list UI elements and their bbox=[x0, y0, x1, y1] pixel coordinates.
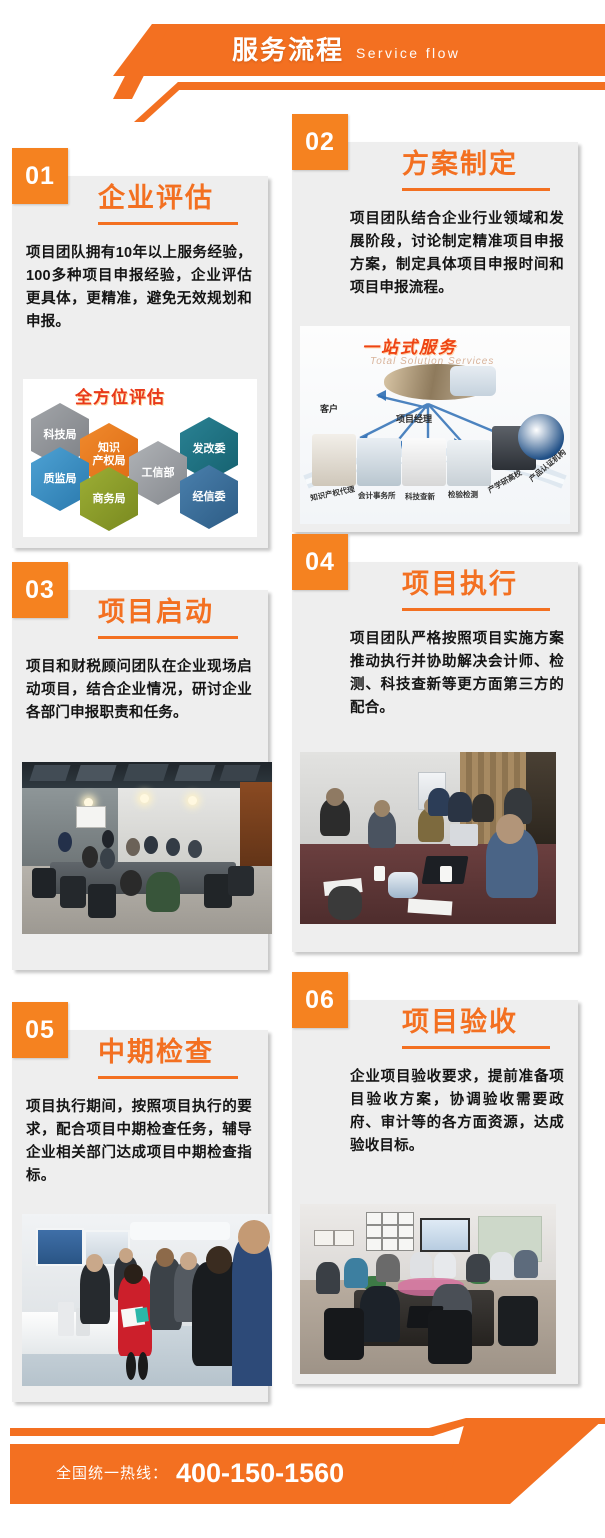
photo-bag bbox=[388, 872, 418, 898]
header-accent-line bbox=[0, 82, 605, 90]
page-footer: 全国统一热线： 400-150-1560 bbox=[0, 1418, 605, 1538]
photo-person-4 bbox=[448, 792, 472, 822]
step-card-06: 06 项目验收 企业项目验收要求，提前准备项目验收方案，协调验收需要政府、审计等… bbox=[292, 1000, 578, 1384]
hex-label: 质监局 bbox=[44, 473, 77, 486]
title-underline bbox=[402, 188, 550, 191]
node-photo-accounting bbox=[357, 438, 401, 486]
photo-projector-screen bbox=[420, 1218, 470, 1252]
step-card-02: 02 方案制定 项目团队结合企业行业领域和发展阶段，讨论制定精准项目申报方案，制… bbox=[292, 142, 578, 532]
step-card-05: 05 中期检查 项目执行期间，按照项目执行的要求，配合项目中期检查任务，辅导企业… bbox=[12, 1030, 268, 1402]
step-card-03: 03 项目启动 项目和财税顾问团队在企业现场启动项目，结合企业情况，研讨企业各部… bbox=[12, 590, 268, 970]
photo-whiteboard bbox=[76, 806, 106, 828]
photo-chair-right bbox=[428, 1310, 472, 1364]
photo-certificate bbox=[314, 1230, 334, 1246]
photo-visitor-blue-jacket bbox=[232, 1240, 272, 1386]
step-description: 项目执行期间，按照项目执行的要求，配合项目中期检查任务，辅导企业相关部门达成项目… bbox=[26, 1096, 252, 1188]
hex-diagram-title: 全方位评估 bbox=[75, 383, 165, 408]
title-underline bbox=[402, 608, 550, 611]
step-number-badge: 06 bbox=[292, 972, 348, 1028]
hex-label: 经信委 bbox=[193, 491, 226, 504]
step-title: 项目执行 bbox=[402, 568, 518, 600]
step-description: 项目团队严格按照项目实施方案推动执行并协助解决会计师、检测、科技查新等更方面第三… bbox=[350, 628, 564, 720]
page-title: 服务流程 bbox=[232, 33, 344, 67]
step-number-badge: 02 bbox=[292, 114, 348, 170]
service-node-search-label: 科技查新 bbox=[405, 491, 435, 502]
step-card-04: 04 项目执行 项目团队严格按照项目实施方案推动执行并协助解决会计师、检测、科技… bbox=[292, 562, 578, 952]
node-photo-ip bbox=[312, 434, 356, 486]
hex-label: 商务局 bbox=[93, 493, 126, 506]
step-photo-acceptance-boardroom bbox=[300, 1204, 556, 1374]
step-title: 项目启动 bbox=[98, 596, 214, 628]
step-photo-showroom-visit bbox=[22, 1214, 272, 1386]
photo-attendee-1 bbox=[344, 1258, 368, 1288]
photo-display-screen-1 bbox=[36, 1228, 84, 1266]
step-title: 企业评估 bbox=[98, 182, 214, 214]
service-node-customer: 客户 bbox=[320, 402, 338, 415]
hex-jingxinwei: 经信委 bbox=[180, 465, 238, 529]
hex-label: 知识 产权局 bbox=[93, 442, 126, 468]
step-title: 方案制定 bbox=[402, 148, 518, 180]
node-photo-testing bbox=[447, 440, 491, 486]
assessment-hex-diagram: 全方位评估 科技局 知识 产权局 发改委 质监局 工信部 商务局 经信委 bbox=[23, 379, 257, 537]
step-number-badge: 03 bbox=[12, 562, 68, 618]
service-node-manager: 项目经理 bbox=[396, 412, 432, 425]
hex-label: 发改委 bbox=[193, 443, 226, 456]
photo-monitor bbox=[450, 824, 478, 846]
step-description: 项目团队结合企业行业领域和发展阶段，讨论制定精准项目申报方案，制定具体项目申报时… bbox=[350, 208, 564, 300]
photo-person-green-coat bbox=[146, 872, 180, 912]
photo-wood-panel bbox=[240, 782, 272, 878]
service-flow-poster: 服务流程 Service flow 01 企业评估 项目团队拥有10年以上服务经… bbox=[0, 0, 605, 1538]
step-description: 项目和财税顾问团队在企业现场启动项目，结合企业情况，研讨企业各部门申报职责和任务… bbox=[26, 656, 252, 725]
step-photo-kickoff-meeting bbox=[22, 762, 272, 934]
hex-label: 工信部 bbox=[142, 467, 175, 480]
hotline-label: 全国统一热线： bbox=[56, 1458, 168, 1490]
page-header: 服务流程 Service flow bbox=[0, 0, 605, 120]
photo-kettle bbox=[328, 886, 362, 920]
photo-chair-left bbox=[324, 1308, 364, 1360]
step-description: 企业项目验收要求，提前准备项目验收方案，协调验收需要政府、审计等的各方面资源，达… bbox=[350, 1066, 564, 1158]
service-node-accounting-label: 会计事务所 bbox=[358, 490, 396, 501]
step-number-badge: 04 bbox=[292, 534, 348, 590]
page-subtitle: Service flow bbox=[356, 41, 460, 65]
hex-label: 科技局 bbox=[44, 429, 77, 442]
step-description: 项目团队拥有10年以上服务经验，100多种项目申报经验，企业评估更具体，更精准，… bbox=[26, 242, 252, 334]
hotline-number[interactable]: 400-150-1560 bbox=[176, 1451, 344, 1495]
title-underline bbox=[98, 1076, 238, 1079]
step-photo-execution-worktable bbox=[300, 752, 556, 924]
node-photo-search bbox=[402, 438, 446, 486]
service-diagram-title: 一站式服务 bbox=[362, 333, 457, 358]
step-card-01: 01 企业评估 项目团队拥有10年以上服务经验，100多种项目申报经验，企业评估… bbox=[12, 176, 268, 548]
one-stop-service-diagram: 一站式服务 Total Solution Services bbox=[300, 326, 570, 524]
photo-chair-far-right bbox=[498, 1296, 538, 1346]
step-title: 中期检查 bbox=[98, 1036, 214, 1068]
step-number-badge: 01 bbox=[12, 148, 68, 204]
photo-attendee-foreground-left bbox=[360, 1286, 400, 1342]
title-underline bbox=[402, 1046, 550, 1049]
step-number-badge: 05 bbox=[12, 1002, 68, 1058]
title-underline bbox=[98, 636, 238, 639]
title-underline bbox=[98, 222, 238, 225]
step-title: 项目验收 bbox=[402, 1006, 518, 1038]
service-node-testing-label: 检验检测 bbox=[448, 489, 478, 500]
